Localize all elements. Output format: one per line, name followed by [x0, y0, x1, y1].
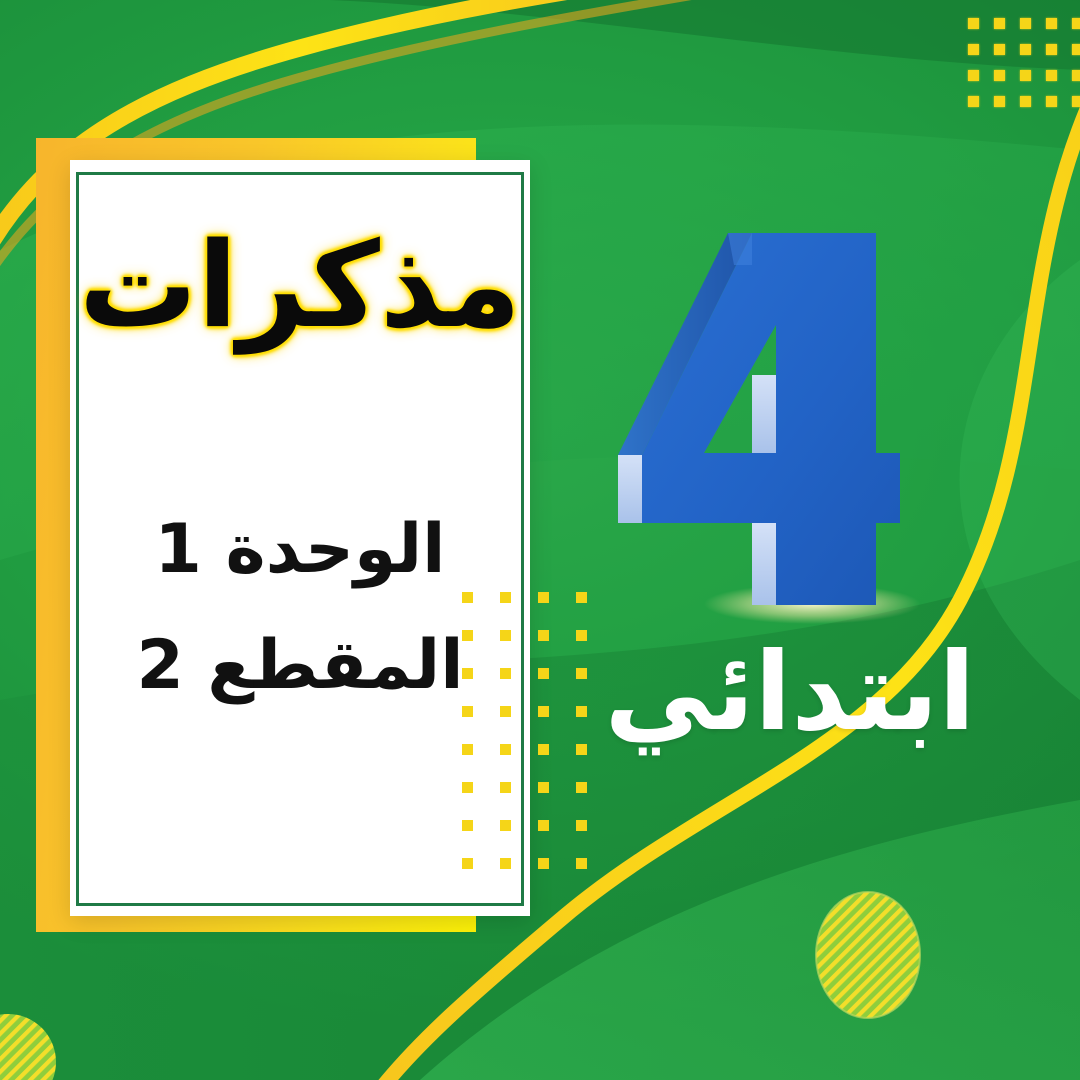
dot	[1020, 44, 1031, 55]
dot	[538, 782, 549, 793]
dot	[1020, 18, 1031, 29]
dot	[500, 858, 511, 869]
dot	[994, 18, 1005, 29]
dot	[462, 706, 473, 717]
dot	[462, 668, 473, 679]
dot	[576, 592, 587, 603]
dot	[538, 630, 549, 641]
dot	[538, 592, 549, 603]
dot	[538, 820, 549, 831]
dot	[1072, 18, 1080, 29]
dot	[1020, 96, 1031, 107]
dot	[538, 744, 549, 755]
dot	[576, 820, 587, 831]
dot	[576, 782, 587, 793]
grade-level-label: ابتدائي	[560, 636, 1020, 749]
dot	[500, 668, 511, 679]
dot	[500, 630, 511, 641]
unit-line: الوحدة 1	[70, 516, 530, 584]
dot	[500, 820, 511, 831]
section-line: المقطع 2	[70, 632, 530, 700]
page-title: مذكرات	[70, 218, 530, 354]
dot	[994, 70, 1005, 81]
dot	[994, 96, 1005, 107]
dot	[968, 44, 979, 55]
grade-numeral	[600, 205, 1000, 635]
dot	[538, 668, 549, 679]
striped-circle-right-icon	[816, 892, 920, 1018]
dot	[462, 820, 473, 831]
dot	[538, 858, 549, 869]
dot	[500, 782, 511, 793]
dot	[1020, 70, 1031, 81]
poster-canvas: مذكرات الوحدة 1 المقطع 2	[0, 0, 1080, 1080]
dot	[1046, 70, 1057, 81]
dot	[1046, 44, 1057, 55]
dot	[462, 858, 473, 869]
dot	[968, 18, 979, 29]
dot	[538, 706, 549, 717]
dot	[1072, 70, 1080, 81]
dot	[462, 630, 473, 641]
dot	[500, 744, 511, 755]
dot	[576, 858, 587, 869]
dot	[968, 96, 979, 107]
dot	[462, 592, 473, 603]
dot	[1072, 96, 1080, 107]
dot	[1046, 18, 1057, 29]
dot	[500, 706, 511, 717]
dot	[462, 744, 473, 755]
dot	[994, 44, 1005, 55]
dot	[1046, 96, 1057, 107]
dot	[1072, 44, 1080, 55]
dot	[500, 592, 511, 603]
grade-numeral-icon	[600, 205, 1000, 635]
dot	[462, 782, 473, 793]
dot	[968, 70, 979, 81]
